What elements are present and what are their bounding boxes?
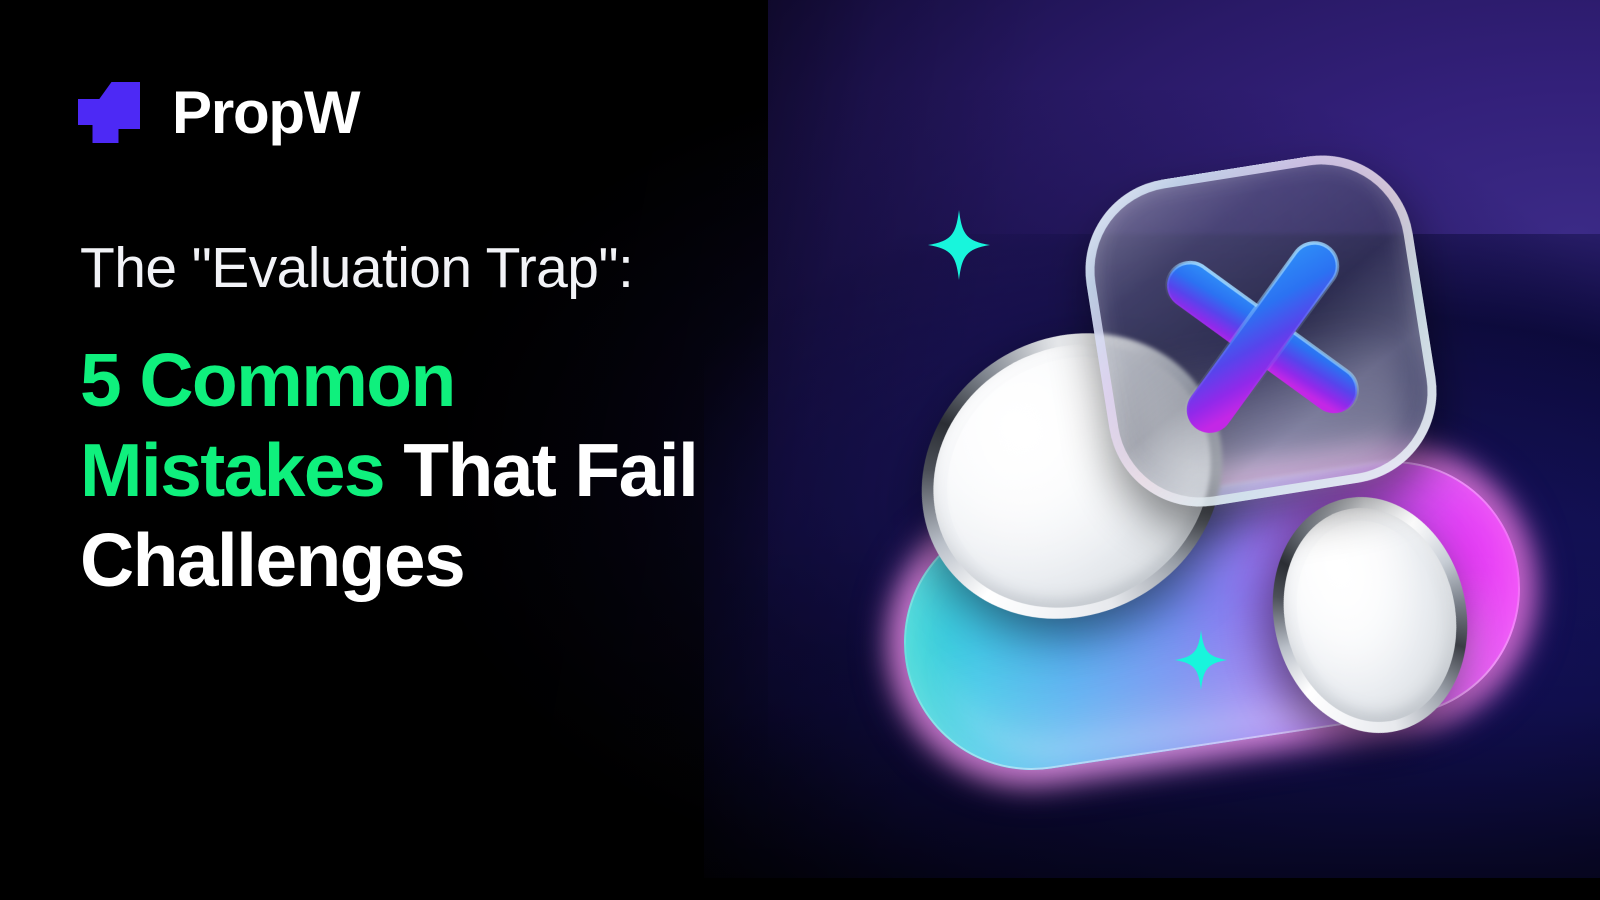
- headline-accent-1: 5 Common: [80, 338, 455, 422]
- sparkle-bottom-icon: [1175, 630, 1227, 690]
- propw-p-mark-icon: [68, 72, 150, 154]
- headline-line-1: 5 Common: [80, 335, 920, 425]
- hero-headline: 5 Common Mistakes That Fail Challenges: [80, 335, 920, 605]
- sparkle-top-icon: [928, 210, 990, 280]
- headline-plain-3: Challenges: [80, 518, 464, 602]
- headline-plain-2: That Fail: [384, 428, 697, 512]
- brand-logo[interactable]: PropW: [68, 72, 359, 154]
- glass-tile: [1072, 142, 1450, 520]
- hero-banner: PropW The "Evaluation Trap": 5 Common Mi…: [0, 0, 1600, 900]
- hero-artwork: [870, 140, 1570, 820]
- brand-wordmark: PropW: [172, 83, 359, 143]
- bottom-bar: [0, 878, 1600, 900]
- headline-line-2: Mistakes That Fail: [80, 425, 920, 515]
- headline-accent-2: Mistakes: [80, 428, 384, 512]
- x-cross-icon: [1072, 142, 1450, 520]
- headline-line-3: Challenges: [80, 515, 920, 605]
- hero-eyebrow: The "Evaluation Trap":: [80, 236, 920, 301]
- hero-copy: The "Evaluation Trap": 5 Common Mistakes…: [80, 236, 920, 605]
